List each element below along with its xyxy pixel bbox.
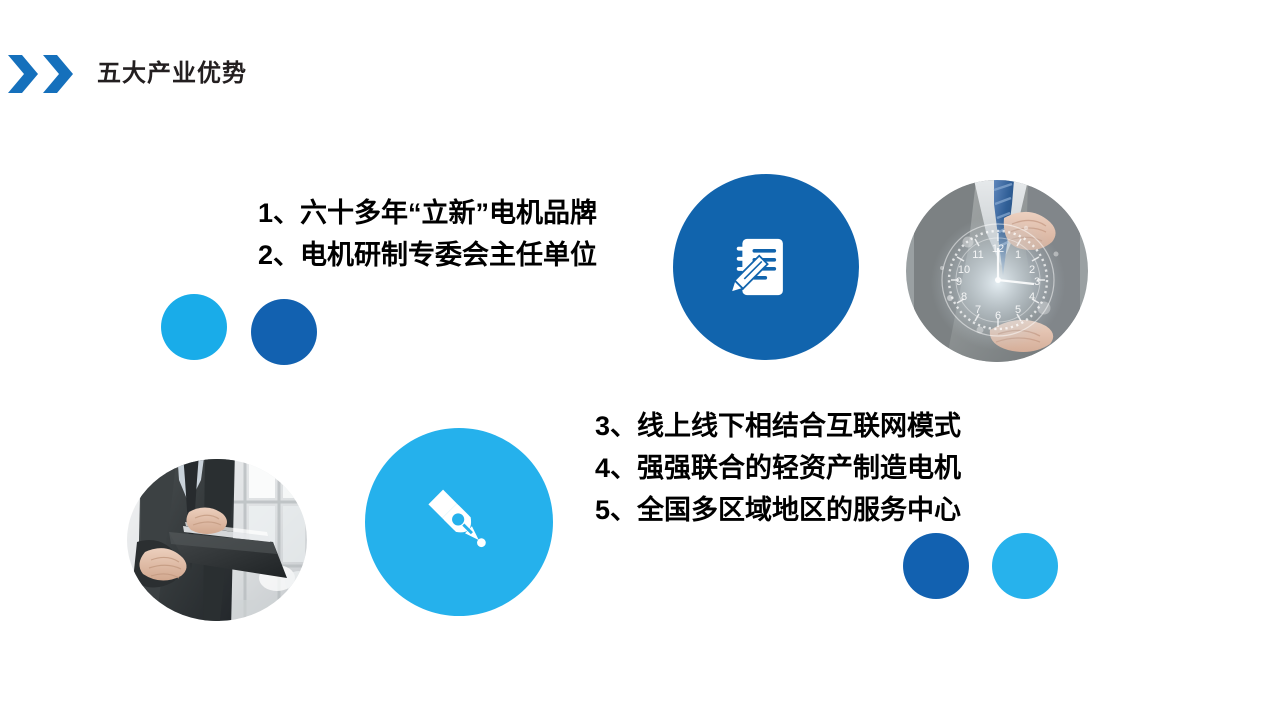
svg-text:4: 4 [1029, 291, 1035, 303]
notebook-icon-circle [673, 174, 859, 360]
slide-header: 五大产业优势 [8, 55, 247, 93]
page-title: 五大产业优势 [97, 62, 247, 86]
advantages-top-list: 1、六十多年“立新”电机品牌 2、电机研制专委会主任单位 [258, 192, 597, 276]
decor-dot-light-2 [992, 533, 1058, 599]
svg-text:7: 7 [975, 304, 981, 316]
pen-icon-circle [365, 428, 553, 616]
decor-dot-light-1 [161, 294, 227, 360]
advantage-item-5: 5、全国多区域地区的服务中心 [595, 489, 961, 531]
advantage-item-2: 2、电机研制专委会主任单位 [258, 234, 597, 276]
double-chevron-right-icon [8, 55, 73, 93]
decor-dot-dark-2 [903, 533, 969, 599]
slide-canvas: 五大产业优势 1、六十多年“立新”电机品牌 2、电机研制专委会主任单位 3、线上… [0, 0, 1280, 720]
advantage-item-3: 3、线上线下相结合互联网模式 [595, 405, 961, 447]
svg-text:2: 2 [1029, 264, 1035, 276]
svg-text:1: 1 [1015, 249, 1021, 261]
advantages-bottom-list: 3、线上线下相结合互联网模式 4、强强联合的轻资产制造电机 5、全国多区域地区的… [595, 405, 961, 531]
svg-text:10: 10 [958, 264, 970, 276]
advantage-item-1: 1、六十多年“立新”电机品牌 [258, 192, 597, 234]
pen-nib-icon [420, 483, 498, 561]
advantage-item-4: 4、强强联合的轻资产制造电机 [595, 447, 961, 489]
svg-text:11: 11 [972, 249, 983, 261]
svg-text:9: 9 [956, 276, 962, 288]
svg-text:5: 5 [1015, 304, 1021, 316]
svg-text:6: 6 [995, 310, 1001, 322]
businessman-holding-clock-hologram-photo: 12 1 2 3 4 5 6 7 8 9 10 11 [906, 180, 1088, 362]
svg-text:8: 8 [961, 291, 967, 303]
notebook-pencil-icon [730, 231, 802, 303]
businessman-holding-folder-photo [127, 459, 307, 621]
decor-dot-dark-1 [251, 299, 317, 365]
svg-text:3: 3 [1034, 276, 1040, 288]
